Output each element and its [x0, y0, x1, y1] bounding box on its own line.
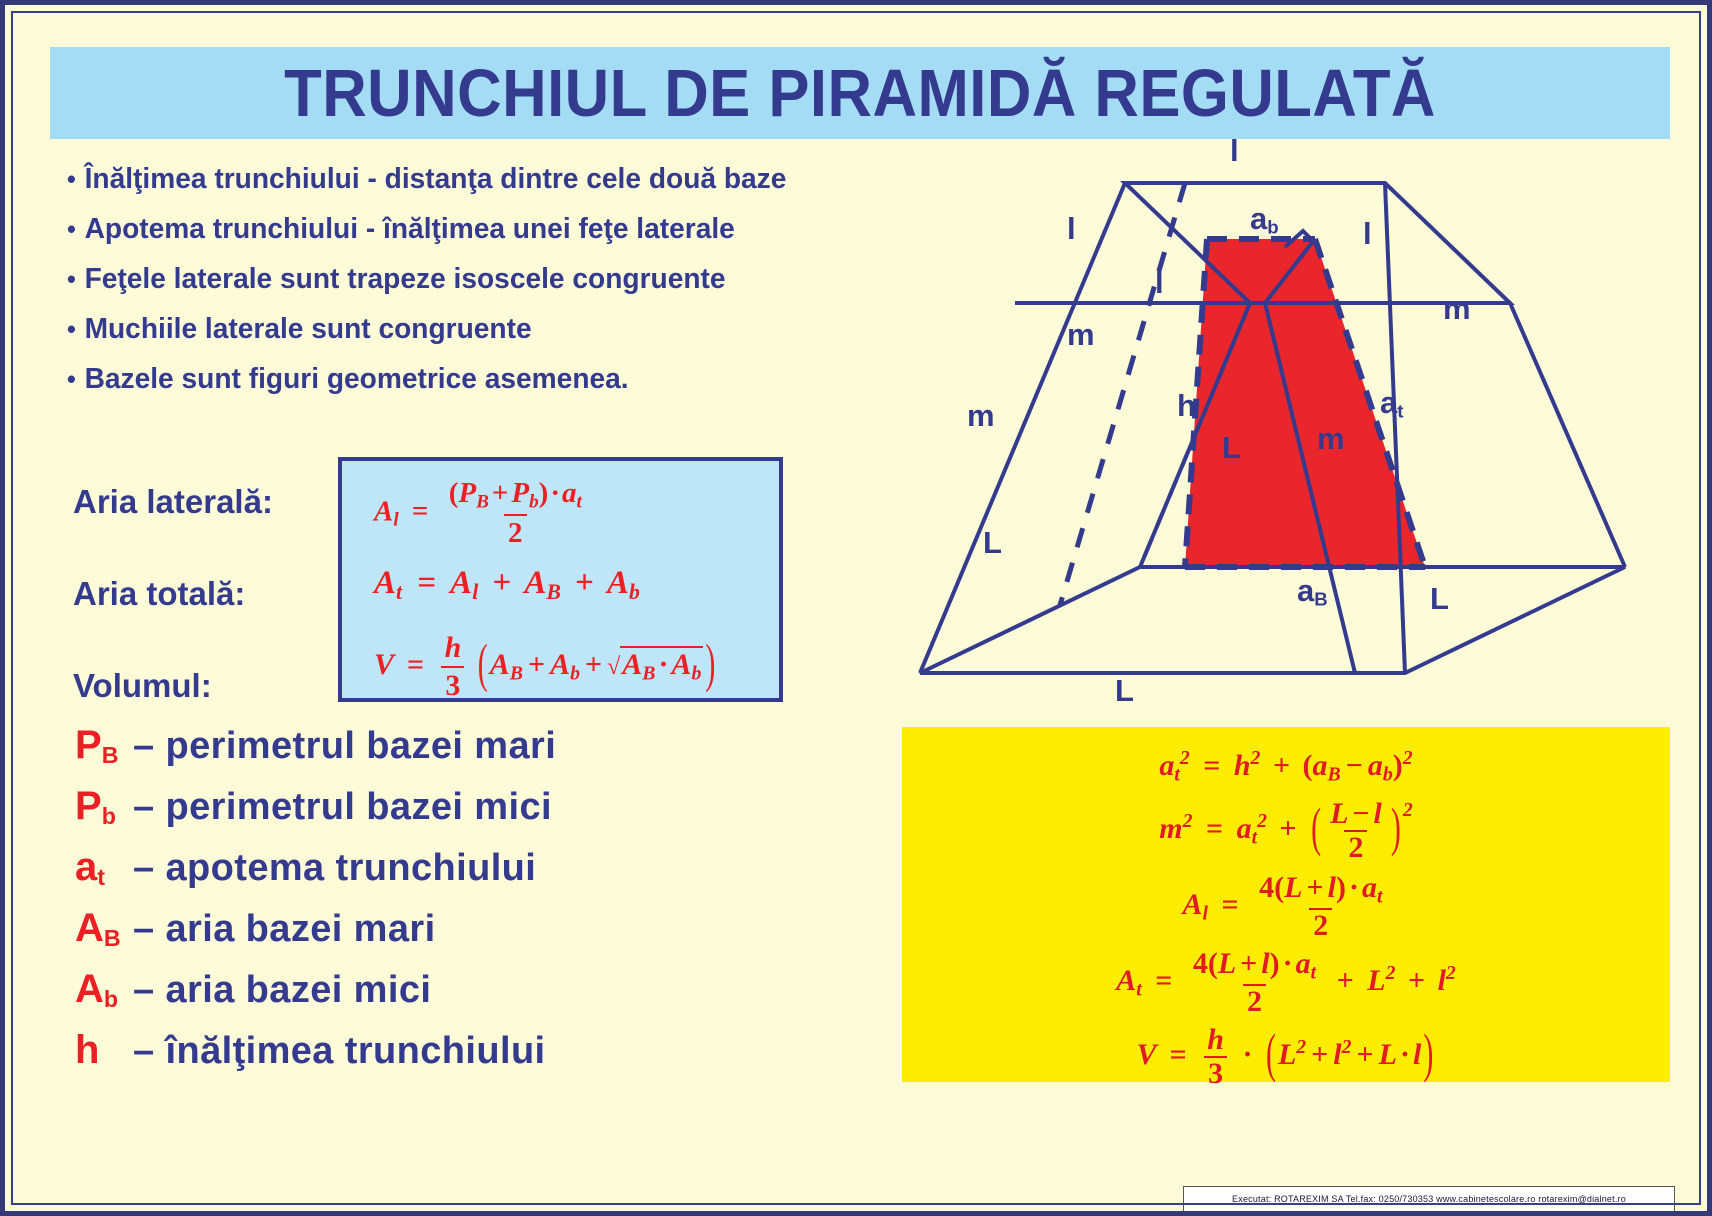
legend-symbol: at	[75, 845, 133, 891]
frustum-diagram: l l ab l l m m m h at m L L aB L L	[885, 135, 1685, 725]
diagram-label-ab: ab	[1250, 203, 1279, 237]
legend-symbol: h	[75, 1028, 133, 1074]
fraction-numerator: L−l	[1326, 799, 1386, 830]
symbol-legend: PB – perimetrul bazei mari Pb – perimetr…	[75, 723, 865, 1090]
fraction-numerator: h	[1203, 1025, 1228, 1056]
page-title: TRUNCHIUL DE PIRAMIDĂ REGULATĂ	[284, 55, 1436, 132]
legend-description: – aria bazei mari	[133, 908, 436, 951]
bottom-base-outline	[920, 567, 1625, 673]
list-item-label: Muchiile laterale sunt congruente	[85, 313, 532, 346]
diagram-label-m-right: m	[1443, 293, 1471, 327]
list-item: Ab – aria bazei mici	[75, 967, 865, 1013]
list-item-label: Înălţimea trunchiului - distanţa dintre …	[85, 163, 787, 196]
legend-symbol: Ab	[75, 967, 133, 1013]
hidden-edge-dashed	[1060, 183, 1185, 605]
fraction-numerator: 4(L+l)·at	[1189, 949, 1320, 984]
legend-symbol: PB	[75, 723, 133, 769]
diagram-label-h: h	[1177, 390, 1196, 424]
fraction: h 3	[1203, 1025, 1228, 1089]
legend-symbol: Pb	[75, 784, 133, 830]
bullet-icon: •	[67, 366, 76, 392]
fraction: h 3	[441, 631, 466, 703]
title-band: TRUNCHIUL DE PIRAMIDĂ REGULATĂ	[50, 47, 1670, 139]
footer-credit-text: Executat: ROTAREXIM SA Tel.fax: 0250/730…	[1232, 1194, 1626, 1204]
fraction-denominator: 3	[1204, 1056, 1227, 1089]
diagram-label-m-left: m	[967, 400, 995, 434]
general-formula-box: Al = (PB+Pb)·at 2 At = Al + AB + Ab V = …	[338, 457, 783, 702]
diagram-label-l-upper-left: l	[1067, 213, 1076, 247]
formula-volume-square: V = h 3 · (L2+l2+L·l)	[902, 1021, 1670, 1093]
lateral-edge-front-left	[920, 183, 1125, 673]
fraction: 4(L+l)·at 2	[1189, 949, 1320, 1017]
formula-apothem-relation: at2 = h2 + (aB−ab)2	[902, 741, 1670, 793]
list-item: • Bazele sunt figuri geometrice asemenea…	[67, 363, 862, 396]
legend-description: – perimetrul bazei mari	[133, 725, 556, 768]
diagram-label-L-red: L	[1222, 432, 1241, 466]
fraction-numerator: (PB+Pb)·at	[445, 477, 586, 514]
radical-icon: √	[607, 654, 620, 681]
diagram-label-L-bottom: L	[1115, 675, 1134, 709]
list-item-label: Bazele sunt figuri geometrice asemenea.	[85, 363, 629, 396]
area-label-column: Aria laterală: Aria totală: Volumul:	[73, 483, 341, 705]
fraction-numerator: 4(L+l)·at	[1255, 873, 1386, 908]
formula-volume: V = h 3 (AB+Ab+√AB·Ab)	[374, 631, 717, 703]
diagram-label-m-red: m	[1317, 423, 1345, 457]
fraction: (PB+Pb)·at 2	[445, 477, 586, 550]
frustum-svg	[885, 135, 1685, 725]
formula-edge-relation: m2 = at2 + (L−l2)2	[902, 793, 1670, 869]
bullet-icon: •	[67, 166, 76, 192]
list-item: Pb – perimetrul bazei mici	[75, 784, 865, 830]
bullet-icon: •	[67, 216, 76, 242]
list-item: PB – perimetrul bazei mari	[75, 723, 865, 769]
formula-lateral-area: Al = (PB+Pb)·at 2	[374, 477, 589, 550]
diagram-label-l-mid: l	[1155, 267, 1164, 301]
fraction-numerator: h	[441, 631, 466, 666]
legend-description: – apotema trunchiului	[133, 847, 536, 890]
formula-operator: =	[412, 495, 429, 527]
diagram-label-aB: aB	[1297, 575, 1328, 609]
diagram-label-m-inner: m	[1067, 319, 1095, 353]
footer-credit-bar: Executat: ROTAREXIM SA Tel.fax: 0250/730…	[1183, 1186, 1675, 1212]
legend-description: – aria bazei mici	[133, 969, 431, 1012]
list-item: at – apotema trunchiului	[75, 845, 865, 891]
fraction-denominator: 2	[1309, 908, 1332, 941]
list-item: • Apotema trunchiului - înălţimea unei f…	[67, 213, 862, 246]
legend-description: – înălţimea trunchiului	[133, 1030, 546, 1073]
list-item: • Muchiile laterale sunt congruente	[67, 313, 862, 346]
lateral-edge-front-right	[1385, 183, 1405, 673]
formula-total-area-square: At = 4(L+l)·at 2 + L2 + l2	[902, 945, 1670, 1021]
list-item: AB – aria bazei mari	[75, 906, 865, 952]
diagram-label-L-right: L	[1430, 583, 1449, 617]
diagram-label-L-left: L	[983, 527, 1002, 561]
formula-total-area: At = Al + AB + Ab	[374, 565, 640, 605]
bullet-icon: •	[67, 316, 76, 342]
fraction-denominator: 2	[1243, 984, 1266, 1017]
lateral-area-label: Aria laterală:	[73, 483, 341, 521]
poster-root: TRUNCHIUL DE PIRAMIDĂ REGULATĂ • Înălţim…	[0, 0, 1712, 1216]
fraction-denominator: 2	[504, 514, 527, 550]
list-item: h – înălţimea trunchiului	[75, 1028, 865, 1074]
diagram-label-l-top: l	[1230, 135, 1239, 169]
formula-subscript: l	[393, 510, 398, 531]
formula-lateral-area-square: Al = 4(L+l)·at 2	[902, 869, 1670, 945]
properties-list: • Înălţimea trunchiului - distanţa dintr…	[67, 163, 887, 413]
formula-symbol: A	[374, 495, 393, 527]
list-item: • Feţele laterale sunt trapeze isoscele …	[67, 263, 862, 296]
list-item-label: Apotema trunchiului - înălţimea unei feţ…	[85, 213, 735, 246]
fraction: L−l2	[1326, 799, 1386, 863]
volume-label: Volumul:	[73, 667, 341, 705]
fraction: 4(L+l)·at 2	[1255, 873, 1386, 941]
square-pyramid-formula-box: at2 = h2 + (aB−ab)2 m2 = at2 + (L−l2)2 A…	[902, 727, 1670, 1082]
legend-description: – perimetrul bazei mici	[133, 786, 552, 829]
legend-symbol: AB	[75, 906, 133, 952]
diagram-label-l-upper-right: l	[1363, 218, 1372, 252]
total-area-label: Aria totală:	[73, 575, 341, 613]
list-item: • Înălţimea trunchiului - distanţa dintr…	[67, 163, 862, 196]
lateral-edge-back-right	[1510, 303, 1625, 567]
bullet-icon: •	[67, 266, 76, 292]
list-item-label: Feţele laterale sunt trapeze isoscele co…	[85, 263, 726, 296]
fraction-denominator: 3	[441, 666, 464, 703]
diagram-label-at: at	[1380, 387, 1403, 421]
fraction-denominator: 2	[1344, 830, 1367, 863]
